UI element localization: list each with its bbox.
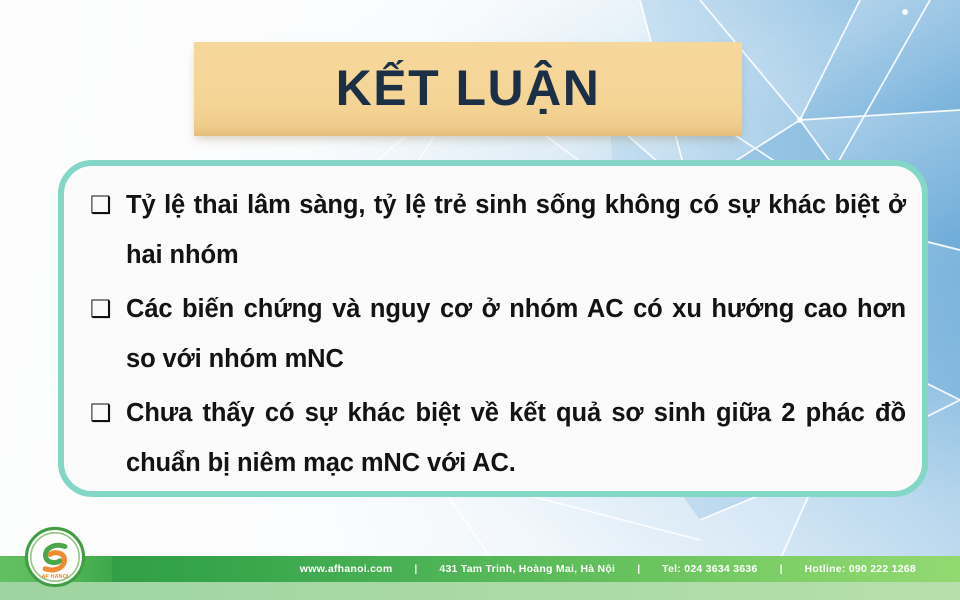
list-item: ❑ Các biến chứng và nguy cơ ở nhóm AC có… <box>90 284 906 384</box>
list-item: ❑ Tỷ lệ thai lâm sàng, tỷ lệ trẻ sinh số… <box>90 180 906 280</box>
list-item: ❑ Chưa thấy có sự khác biệt về kết quả s… <box>90 388 906 488</box>
list-item-text: Chưa thấy có sự khác biệt về kết quả sơ … <box>126 388 906 488</box>
slide-canvas: KẾT LUẬN ❑ Tỷ lệ thai lâm sàng, tỷ lệ tr… <box>0 0 960 600</box>
footer-separator: | <box>637 563 640 575</box>
page-title: KẾT LUẬN <box>336 63 601 113</box>
checkbox-square-icon: ❑ <box>90 389 126 439</box>
footer-lower-strip <box>0 582 960 600</box>
footer-contact-items: www.afhanoi.com | 431 Tam Trinh, Hoàng M… <box>278 563 938 575</box>
conclusion-bullet-list: ❑ Tỷ lệ thai lâm sàng, tỷ lệ trẻ sinh số… <box>90 180 906 492</box>
list-item-text: Các biến chứng và nguy cơ ở nhóm AC có x… <box>126 284 906 384</box>
conclusion-card: ❑ Tỷ lệ thai lâm sàng, tỷ lệ trẻ sinh số… <box>58 160 928 497</box>
footer-bar: www.afhanoi.com | 431 Tam Trinh, Hoàng M… <box>0 556 960 582</box>
title-banner: KẾT LUẬN <box>194 42 742 136</box>
footer-address: 431 Tam Trinh, Hoàng Mai, Hà Nội <box>417 563 637 575</box>
checkbox-square-icon: ❑ <box>90 181 126 231</box>
af-hanoi-logo: AF HANOI <box>24 526 86 588</box>
checkbox-square-icon: ❑ <box>90 285 126 335</box>
footer-hotline: Hotline: 090 222 1268 <box>783 563 938 575</box>
list-item-text: Tỷ lệ thai lâm sàng, tỷ lệ trẻ sinh sống… <box>126 180 906 280</box>
footer-separator: | <box>780 563 783 575</box>
logo-text: AF HANOI <box>42 574 69 580</box>
footer-telephone: Tel: 024 3634 3636 <box>640 563 779 575</box>
footer-separator: | <box>414 563 417 575</box>
footer-website[interactable]: www.afhanoi.com <box>278 563 415 575</box>
